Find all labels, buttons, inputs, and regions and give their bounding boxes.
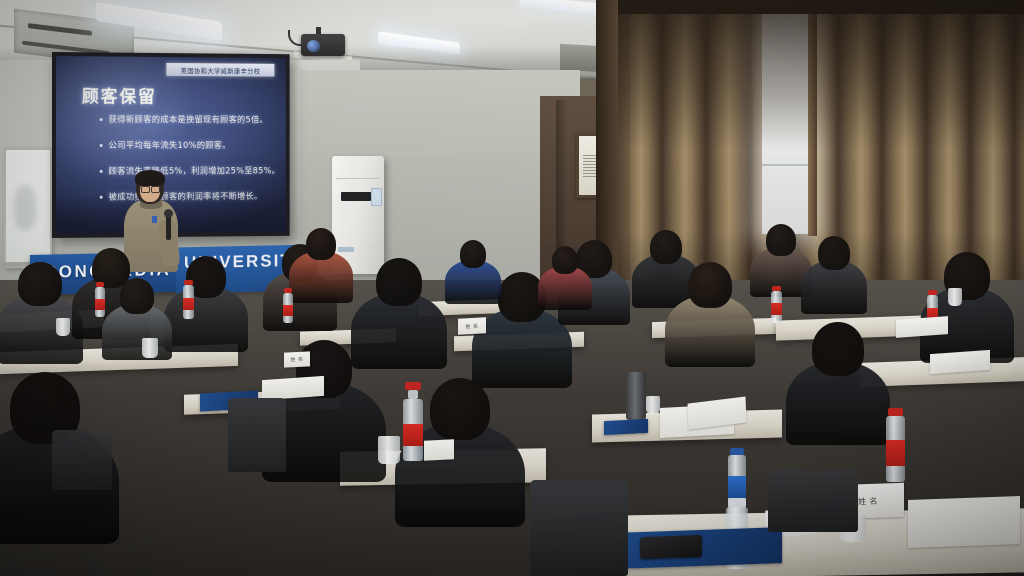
blue-booklet [604,419,648,435]
slide-bullet-text: 顾客流失率降低5%，利润增加25%至85%。 [109,165,280,177]
attendee-head [812,322,864,376]
bottle-cap [730,448,744,455]
air-conditioner-grille [341,192,371,201]
attendee-head [376,258,422,306]
presenter-badge [152,216,157,223]
smartphone [640,535,702,559]
bottle-label [403,424,423,446]
bottle-neck [408,390,418,399]
bullet-dot-icon [100,144,103,147]
paper-cup [948,288,962,306]
bottle-cap [728,498,746,507]
paper-cup [646,396,660,414]
attendee-head [688,262,732,308]
chair-back [52,430,112,490]
bottle-label [95,299,105,310]
attendee-head [120,278,154,314]
bullet-dot-icon [100,118,103,121]
whiteboard-smudge [14,186,36,230]
bottle-cap [888,408,903,416]
slide-bullet-text: 获得新顾客的成本是挽留现有顾客的5倍。 [109,113,268,125]
name-card: 姓 名 [284,351,310,367]
attendee-head [766,224,796,256]
bottle-cap [405,382,421,390]
projector-lens [307,40,320,52]
slide-bullet: 获得新顾客的成本是挽留现有顾客的5倍。 [100,113,268,125]
bottle-label [283,305,293,316]
slide-bullet: 公司平均每年流失10%的顾客。 [100,139,231,151]
attendee-head [552,246,578,274]
paper-sheet [424,439,454,461]
chair-back [768,470,858,532]
curtain-shadow [618,0,1024,150]
classroom-photo: 美国协和大学威斯康辛分校 顾客保留 获得新顾客的成本是挽留现有顾客的5倍。 公司… [0,0,1024,576]
name-card-text: 姓 名 [290,356,303,364]
bottle-label [886,440,905,466]
glasses-icon [141,186,150,193]
bullet-dot-icon [100,170,103,173]
glasses-icon [151,186,160,193]
paper-sheet [896,316,948,338]
name-card: 姓 名 [458,317,486,334]
air-conditioner-logo [338,247,354,252]
bottle-label [183,298,194,310]
paper-cup [56,318,70,336]
thermos [626,372,646,420]
attendee-head [460,240,486,268]
attendee-head [650,230,682,264]
slide-bullet: 顾客流失率降低5%，利润增加25%至85%。 [100,165,280,177]
bottle-label [771,303,782,315]
attendee-head [818,236,850,270]
paper-sheet [930,350,990,374]
air-conditioner-display [371,188,382,206]
paper-cup [378,436,400,464]
slide-title: 顾客保留 [82,82,157,107]
attendee-head [430,378,490,440]
notebook [908,496,1020,548]
paper-cup [142,338,158,358]
slide-header-banner: 美国协和大学威斯康辛分校 [166,63,274,77]
attendee-head [306,228,336,260]
name-card-text: 姓 名 [465,322,478,330]
microphone-head-icon [164,209,173,218]
slide-bullet-text: 公司平均每年流失10%的顾客。 [109,139,231,151]
window-horizon [762,164,810,166]
presenter-hair [135,170,165,186]
chair-back [530,480,628,576]
attendee-head [18,262,62,306]
chair-back [228,398,286,472]
air-conditioner-seam [336,178,380,179]
bottle-label [728,476,746,498]
name-card-text: 姓 名 [858,495,878,507]
slide-header-text: 美国协和大学威斯康辛分校 [181,65,261,75]
